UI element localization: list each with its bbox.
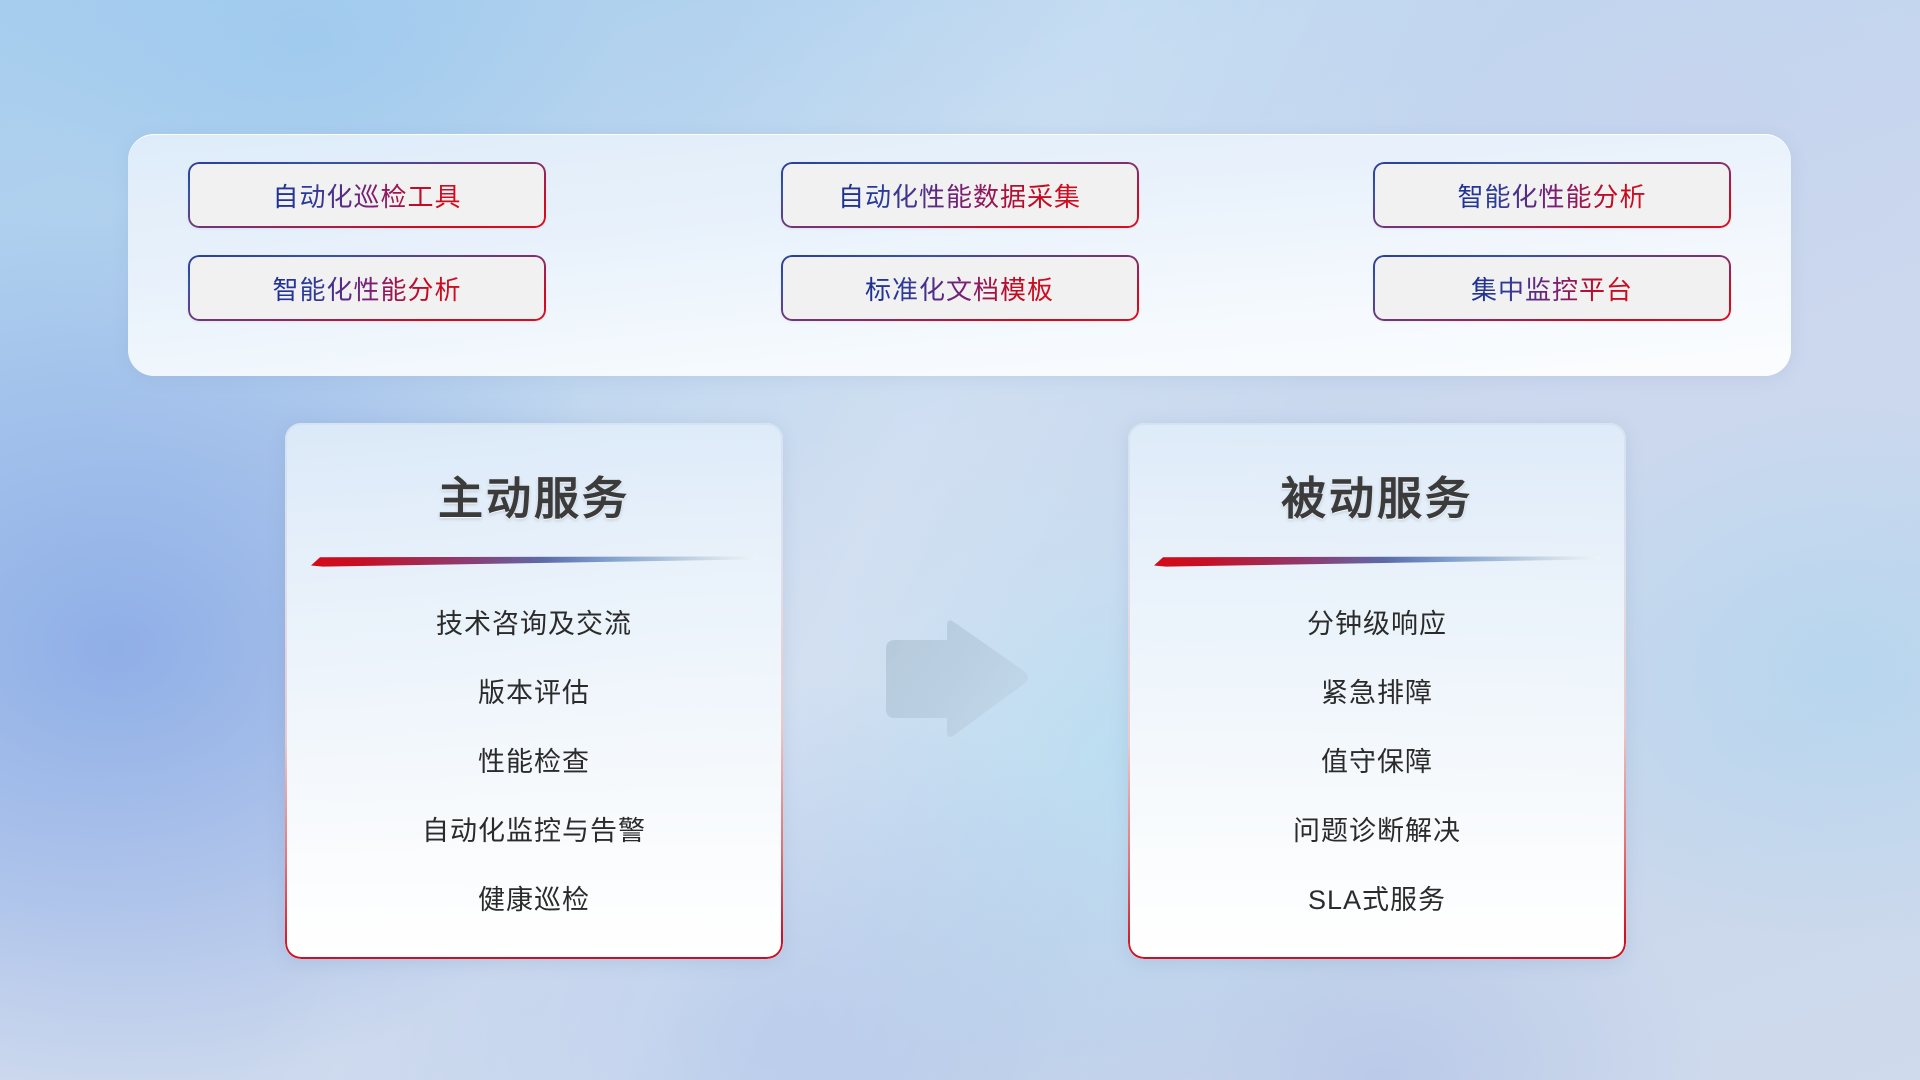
capability-pill[interactable]: 自动化性能数据采集 — [781, 162, 1139, 228]
capability-pill[interactable]: 集中监控平台 — [1373, 255, 1731, 321]
service-item: 版本评估 — [478, 659, 590, 728]
service-item: 值守保障 — [1321, 728, 1433, 797]
arrow-right-icon — [874, 618, 1034, 740]
service-item: 问题诊断解决 — [1293, 797, 1461, 866]
capability-pill[interactable]: 智能化性能分析 — [1373, 162, 1731, 228]
service-item: 自动化监控与告警 — [422, 797, 646, 866]
service-card-title: 被动服务 — [1128, 462, 1626, 527]
service-item: 性能检查 — [478, 728, 590, 797]
capability-pill[interactable]: 智能化性能分析 — [188, 255, 546, 321]
gradient-divider-shape — [1154, 555, 1600, 568]
capability-pill-row: 智能化性能分析 标准化文档模板 集中监控平台 — [188, 255, 1731, 321]
service-item: 健康巡检 — [478, 866, 590, 935]
arrow-right-shape — [874, 618, 1034, 740]
service-card-passive: 被动服务 分钟级 — [1128, 423, 1626, 959]
capability-pill-label: 智能化性能分析 — [272, 270, 461, 307]
capabilities-panel: 自动化巡检工具 自动化性能数据采集 智能化性能分析 智能化性能分析 标准化文档模… — [128, 134, 1791, 376]
service-item-list: 分钟级响应 紧急排障 值守保障 问题诊断解决 SLA式服务 — [1128, 590, 1626, 935]
service-card-title: 主动服务 — [285, 462, 783, 527]
capability-pill-row: 自动化巡检工具 自动化性能数据采集 智能化性能分析 — [188, 162, 1731, 228]
capability-pill[interactable]: 标准化文档模板 — [781, 255, 1139, 321]
gradient-divider — [311, 555, 757, 568]
gradient-divider-shape — [311, 555, 757, 568]
capability-pill-label: 自动化性能数据采集 — [838, 177, 1081, 214]
capability-pill[interactable]: 自动化巡检工具 — [188, 162, 546, 228]
service-item: 技术咨询及交流 — [436, 590, 632, 659]
gradient-divider — [1154, 555, 1600, 568]
card-divider-wrap — [1128, 555, 1626, 568]
capability-pill-grid: 自动化巡检工具 自动化性能数据采集 智能化性能分析 智能化性能分析 标准化文档模… — [128, 134, 1791, 376]
capability-pill-label: 标准化文档模板 — [865, 270, 1054, 307]
capability-pill-label: 自动化巡检工具 — [272, 177, 461, 214]
capability-pill-label: 集中监控平台 — [1471, 270, 1633, 307]
service-item: 分钟级响应 — [1307, 590, 1447, 659]
service-item-list: 技术咨询及交流 版本评估 性能检查 自动化监控与告警 健康巡检 — [285, 590, 783, 935]
service-item: 紧急排障 — [1321, 659, 1433, 728]
service-card-active: 主动服务 技术咨 — [285, 423, 783, 959]
service-item: SLA式服务 — [1308, 866, 1446, 935]
card-divider-wrap — [285, 555, 783, 568]
capability-pill-label: 智能化性能分析 — [1457, 177, 1646, 214]
